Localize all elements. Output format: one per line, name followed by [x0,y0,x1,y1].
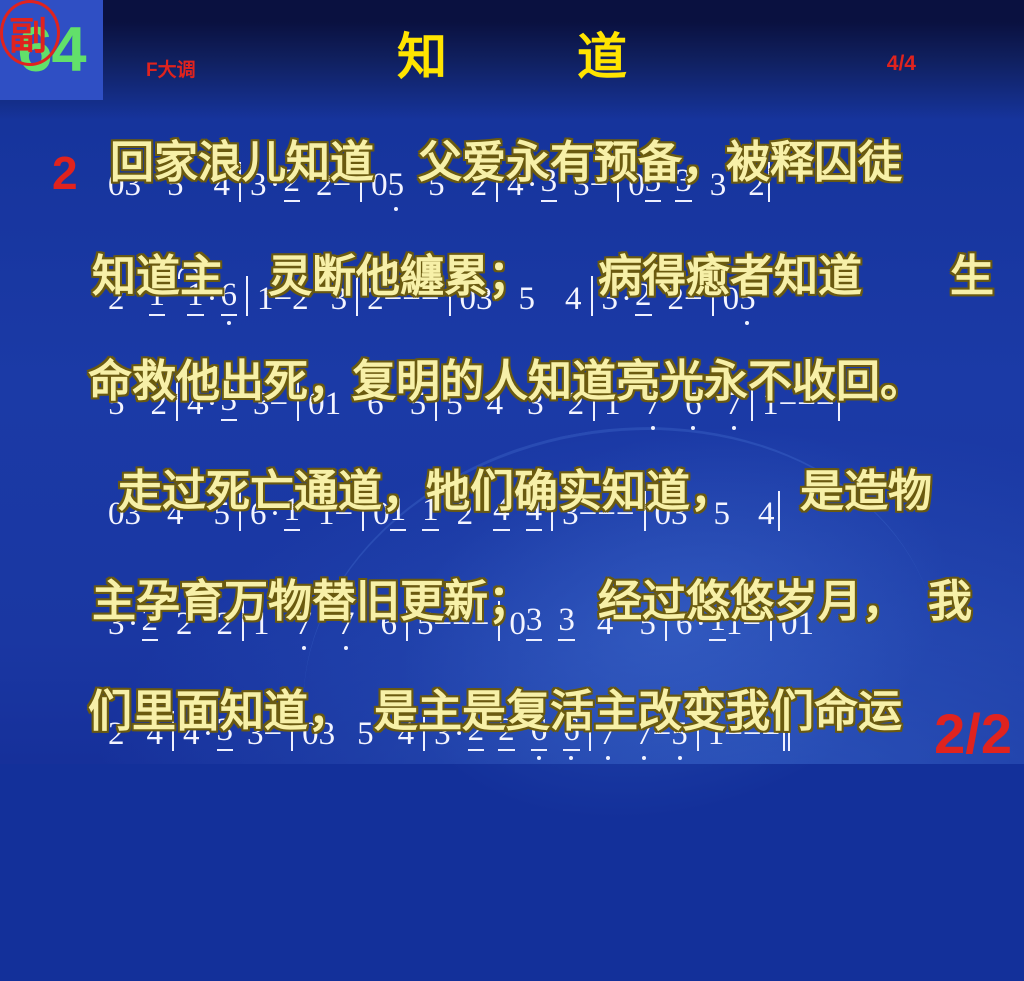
chorus-marker-label: 副 [9,18,47,62]
time-signature: 4/4 [887,52,916,76]
lyrics-line-3: 命救他出死，复明的人知道亮光永不收回。 [88,360,1024,404]
chorus-marker: 副 [0,0,56,62]
slide-header: 64 F大调 知 道 4/4 [0,0,1024,100]
page-marker: 2/2 [934,706,1012,762]
lyrics-line-5: 主孕育万物替旧更新； 经过悠悠岁月， 我 [92,580,1024,624]
page-title: 知 道 [0,32,1024,82]
lyrics-line-2: 知道主 灵断他纏累； 病得癒者知道 生 [92,255,1024,299]
lyrics-line-6: 们里面知道， 是主是复活主改变我们命运 [88,690,1024,734]
lyrics-line-1: 回家浪儿知道 父爱永有预备，被释囚徒 [110,141,1024,185]
lyrics-line-4: 走过死亡通道，牠们确实知道， 是造物 [118,470,1024,514]
